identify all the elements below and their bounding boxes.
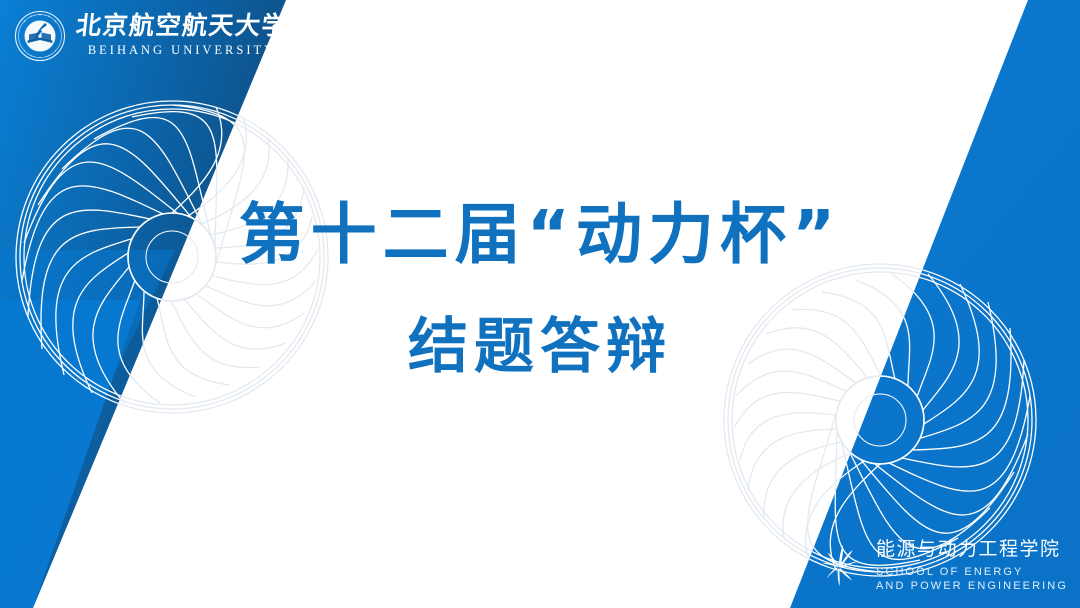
school-logo-lockup: 能源与动力工程学院 SCHOOL OF ENERGY AND POWER ENG… [816,538,1068,594]
school-name-cn: 能源与动力工程学院 [876,538,1068,561]
page-subtitle: 结题答辩 [0,312,1080,383]
university-name-cn: 北京航空航天大学 [75,14,290,40]
university-name-group: 北京航空航天大学 BEIHANG UNIVERSITY [76,14,288,57]
school-name-group: 能源与动力工程学院 SCHOOL OF ENERGY AND POWER ENG… [876,538,1068,594]
school-name-en-line1: SCHOOL OF ENERGY [876,565,1068,580]
title-slide: 北京航空航天大学 BEIHANG UNIVERSITY 第十二届“动力杯” 结题… [0,0,1080,608]
school-name-en-line2: AND POWER ENGINEERING [876,579,1068,594]
leaf-flame-icon [816,542,864,590]
university-logo-lockup: 北京航空航天大学 BEIHANG UNIVERSITY [14,10,288,62]
title-block: 第十二届“动力杯” 结题答辩 [0,196,1080,383]
buaa-seal-icon [14,10,66,62]
university-name-en: BEIHANG UNIVERSITY [76,43,288,58]
page-title: 第十二届“动力杯” [0,196,1080,274]
